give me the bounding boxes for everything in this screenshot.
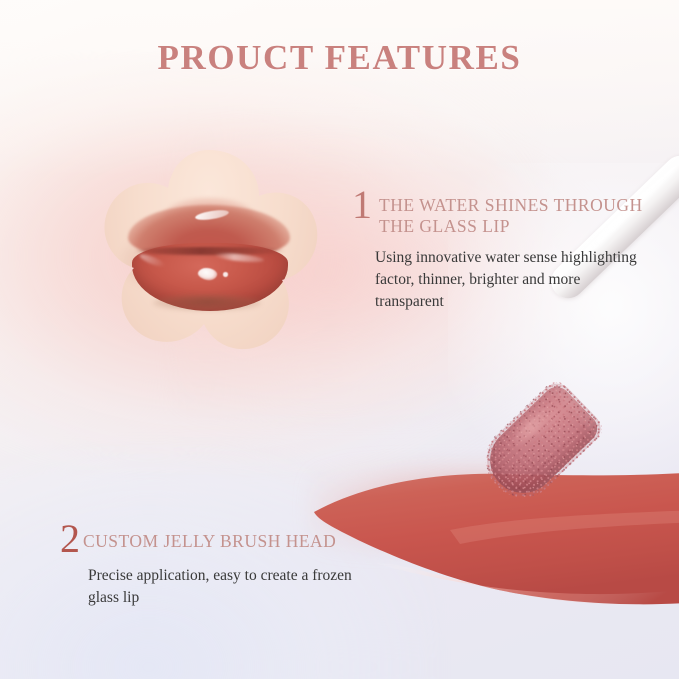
feature-2-heading: CUSTOM JELLY BRUSH HEAD [83, 522, 336, 552]
feature-1-heading: THE WATER SHINES THROUGH THE GLASS LIP [379, 188, 652, 237]
page-title: PROUCT FEATURES [0, 38, 679, 78]
feature-1-number: 1 [352, 188, 372, 222]
flower-mask-shape [96, 144, 322, 370]
feature-1-header: 1 THE WATER SHINES THROUGH THE GLASS LIP [352, 188, 652, 237]
feature-item-2: 2 CUSTOM JELLY BRUSH HEAD Precise applic… [60, 522, 360, 609]
feature-2-header: 2 CUSTOM JELLY BRUSH HEAD [60, 522, 360, 556]
feature-2-number: 2 [60, 522, 80, 556]
feature-item-1: 1 THE WATER SHINES THROUGH THE GLASS LIP… [352, 188, 652, 313]
feature-2-body: Precise application, easy to create a fr… [88, 565, 360, 609]
lips-swatch-image [96, 144, 322, 370]
feature-1-body: Using innovative water sense highlightin… [375, 247, 652, 313]
product-features-poster: PROUCT FEATURES [0, 0, 679, 679]
